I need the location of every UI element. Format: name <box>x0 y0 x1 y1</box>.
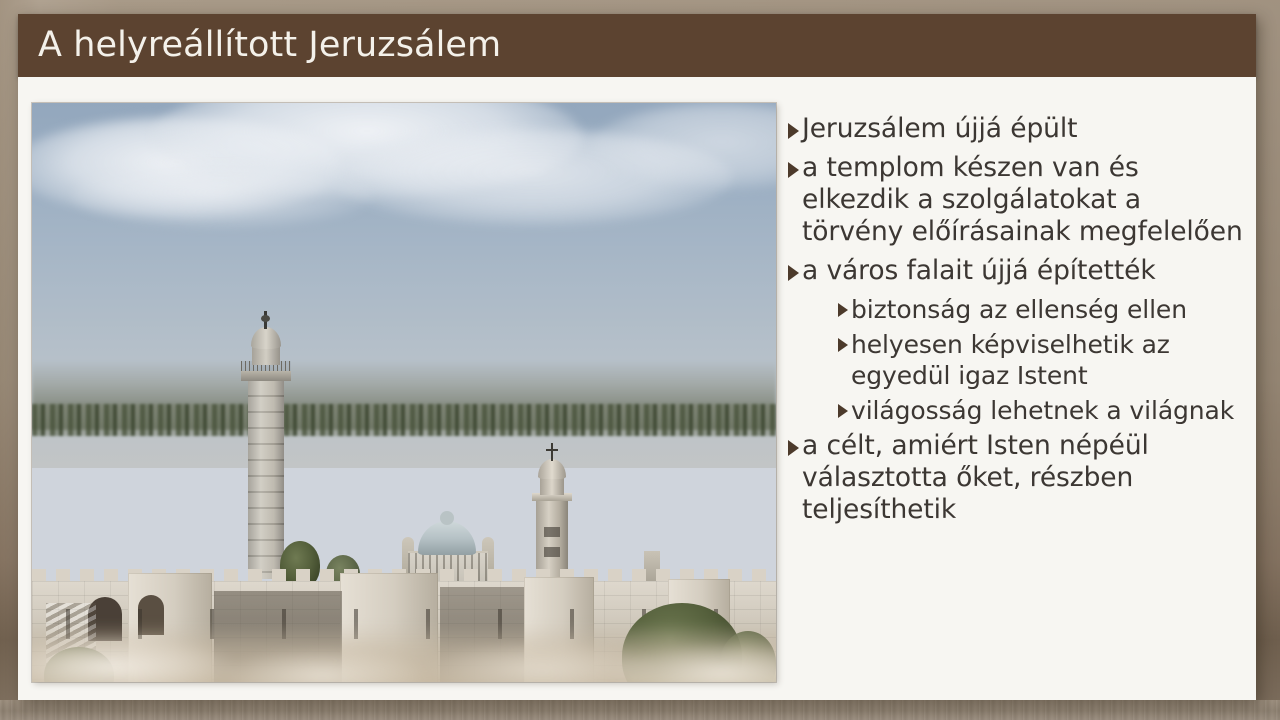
list-item: világosság lehetnek a világnak <box>838 395 1246 426</box>
list-item: a város falait újjá építették <box>788 255 1246 287</box>
slide-title-bar: A helyreállított Jeruzsálem <box>18 14 1256 77</box>
list-item: a célt, amiért Isten népéül választotta … <box>788 430 1246 526</box>
triangle-right-bullet-icon <box>788 162 799 178</box>
list-item-label: a város falait újjá építették <box>802 255 1246 287</box>
list-item: helyesen képviselhetik az egyedül igaz I… <box>838 329 1246 391</box>
bell-tower-windows <box>544 527 560 567</box>
list-item-label: biztonság az ellenség ellen <box>851 294 1246 325</box>
triangle-right-bullet-icon <box>838 404 848 418</box>
minaret-stone-bands <box>248 379 284 579</box>
minaret-balcony <box>241 371 291 381</box>
list-item: biztonság az ellenség ellen <box>838 294 1246 325</box>
list-item-label: Jeruzsálem újjá épült <box>802 113 1246 145</box>
list-item-label: helyesen képviselhetik az egyedül igaz I… <box>851 329 1246 391</box>
bullet-list: Jeruzsálem újjá épült a templom készen v… <box>788 113 1246 533</box>
cross-icon <box>546 449 558 451</box>
cloud-icon <box>72 165 372 227</box>
triangle-right-bullet-icon <box>788 265 799 281</box>
dormition-abbey-dome <box>418 521 476 555</box>
backdrop-surface <box>0 700 1280 720</box>
minaret-finial-ball <box>261 315 270 322</box>
triangle-right-bullet-icon <box>838 338 848 352</box>
page-title: A helyreállított Jeruzsálem <box>38 20 501 70</box>
list-item-label: világosság lehetnek a világnak <box>851 395 1246 426</box>
list-item: a templom készen van és elkezdik a szolg… <box>788 152 1246 248</box>
abbey-dome-lantern <box>440 511 454 525</box>
distant-treeline <box>32 404 776 436</box>
triangle-right-bullet-icon <box>838 303 848 317</box>
list-item: Jeruzsálem újjá épült <box>788 113 1246 145</box>
triangle-right-bullet-icon <box>788 123 799 139</box>
foreground-rocks <box>32 659 776 682</box>
slide: A helyreállított Jeruzsálem <box>18 14 1256 700</box>
triangle-right-bullet-icon <box>788 440 799 456</box>
jerusalem-photo <box>32 103 776 682</box>
list-item-label: a célt, amiért Isten népéül választotta … <box>802 430 1246 526</box>
slide-content: Jeruzsálem újjá épült a templom készen v… <box>18 77 1256 700</box>
list-item-label: a templom készen van és elkezdik a szolg… <box>802 152 1246 248</box>
cross-icon <box>551 443 553 461</box>
